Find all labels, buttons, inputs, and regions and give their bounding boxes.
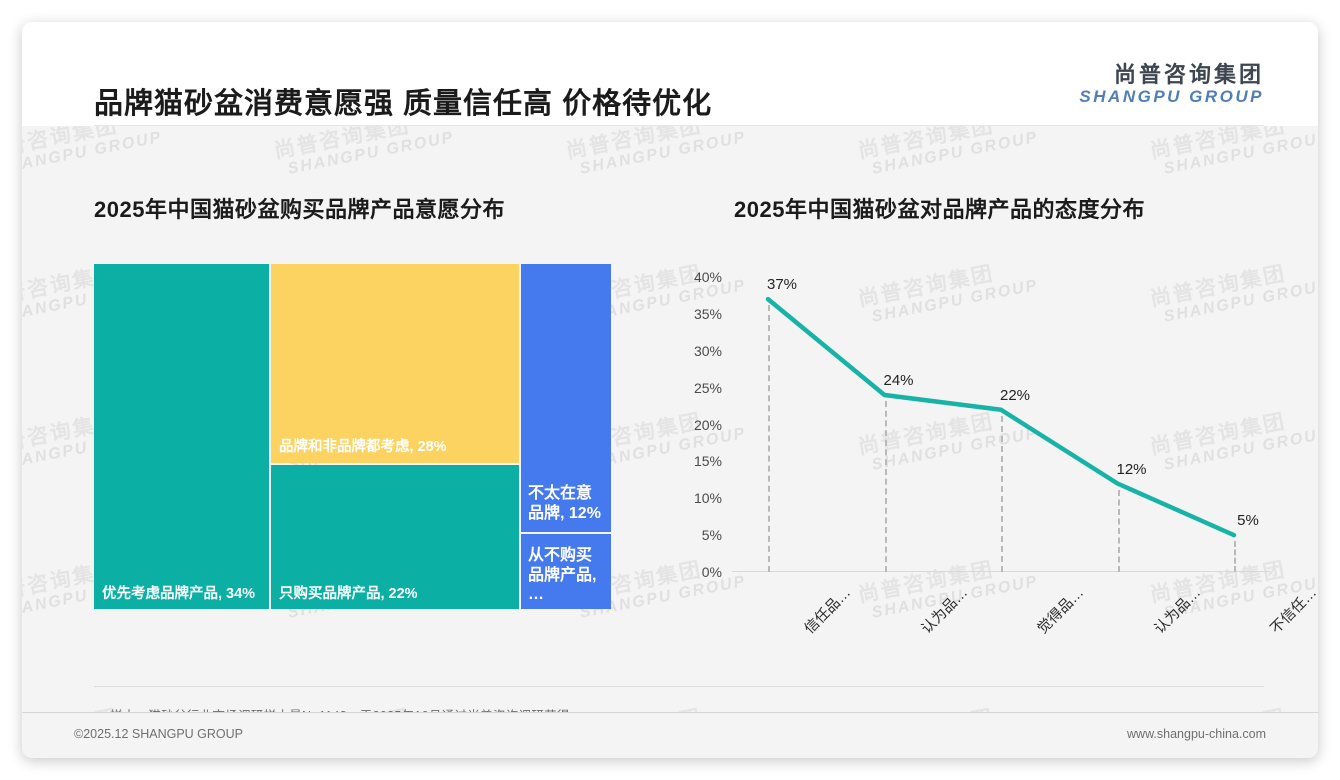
- brand-logo-en: SHANGPU GROUP: [1079, 87, 1264, 107]
- data-point-label: 37%: [767, 276, 797, 293]
- gridline-vertical: [885, 401, 887, 572]
- treemap-chart-title: 2025年中国猫砂盆购买品牌产品意愿分布: [94, 192, 505, 224]
- y-axis-tick-label: 40%: [676, 269, 722, 285]
- treemap-cell-label: 优先考虑品牌产品, 34%: [94, 586, 269, 603]
- y-axis-tick-label: 0%: [676, 564, 722, 580]
- brand-logo-cn: 尚普咨询集团: [1079, 62, 1264, 87]
- treemap-cell-label: 品牌和非品牌都考虑, 28%: [271, 439, 519, 456]
- treemap-cell[interactable]: 优先考虑品牌产品, 34%: [94, 264, 269, 609]
- header-bar: 品牌猫砂盆消费意愿强 质量信任高 价格待优化 尚普咨询集团 SHANGPU GR…: [22, 22, 1318, 126]
- treemap-cell[interactable]: 从不购买品牌产品, …: [521, 534, 611, 609]
- line-chart: 0%5%10%15%20%25%30%35%40% 37%24%22%12%5%…: [670, 277, 1270, 647]
- y-axis-tick-label: 15%: [676, 453, 722, 469]
- treemap-cell[interactable]: 品牌和非品牌都考虑, 28%: [271, 264, 519, 463]
- y-axis-tick-label: 25%: [676, 380, 722, 396]
- treemap-cell-label: 从不购买品牌产品, …: [521, 546, 611, 605]
- slide-frame: 尚普咨询集团SHANGPU GROUP尚普咨询集团SHANGPU GROUP尚普…: [22, 22, 1318, 758]
- treemap-cell[interactable]: 只购买品牌产品, 22%: [271, 465, 519, 609]
- data-point-label: 5%: [1237, 512, 1259, 529]
- gridline-vertical: [1001, 416, 1003, 572]
- x-axis-tick-label: 认为品…: [915, 582, 971, 638]
- plot-area: 37%24%22%12%5%信任品…认为品…觉得品…认为品…不信任…: [732, 277, 1270, 572]
- footer-bar: ©2025.12 SHANGPU GROUP www.shangpu-china…: [22, 712, 1318, 758]
- gridline-vertical: [1118, 490, 1120, 573]
- y-axis-tick-label: 5%: [676, 527, 722, 543]
- source-divider: [94, 686, 1264, 687]
- x-axis-tick-label: 认为品…: [1148, 582, 1204, 638]
- y-axis-tick-label: 20%: [676, 417, 722, 433]
- data-point-label: 12%: [1116, 461, 1146, 478]
- x-axis-tick-label: 觉得品…: [1032, 582, 1088, 638]
- data-point-label: 22%: [1000, 387, 1030, 404]
- x-axis-tick-label: 不信任…: [1265, 582, 1318, 638]
- treemap-cell[interactable]: 不太在意品牌, 12%: [521, 264, 611, 532]
- x-axis-tick-label: 信任品…: [799, 582, 855, 638]
- y-axis-tick-label: 35%: [676, 306, 722, 322]
- page-title: 品牌猫砂盆消费意愿强 质量信任高 价格待优化: [94, 80, 712, 122]
- data-point-label: 24%: [883, 372, 913, 389]
- treemap-cell-label: 不太在意品牌, 12%: [521, 484, 611, 524]
- footer-copyright: ©2025.12 SHANGPU GROUP: [74, 727, 243, 741]
- header-divider: [94, 125, 1264, 126]
- gridline-vertical: [1234, 541, 1236, 572]
- line-chart-title: 2025年中国猫砂盆对品牌产品的态度分布: [734, 192, 1145, 224]
- treemap-chart: 优先考虑品牌产品, 34% 品牌和非品牌都考虑, 28% 只购买品牌产品, 22…: [94, 264, 611, 609]
- y-axis-tick-label: 10%: [676, 490, 722, 506]
- treemap-cell-label: 只购买品牌产品, 22%: [271, 586, 519, 603]
- y-axis-tick-label: 30%: [676, 343, 722, 359]
- brand-logo: 尚普咨询集团 SHANGPU GROUP: [1079, 62, 1264, 107]
- gridline-vertical: [768, 305, 770, 572]
- y-axis: 0%5%10%15%20%25%30%35%40%: [670, 277, 722, 572]
- footer-website[interactable]: www.shangpu-china.com: [1127, 727, 1266, 741]
